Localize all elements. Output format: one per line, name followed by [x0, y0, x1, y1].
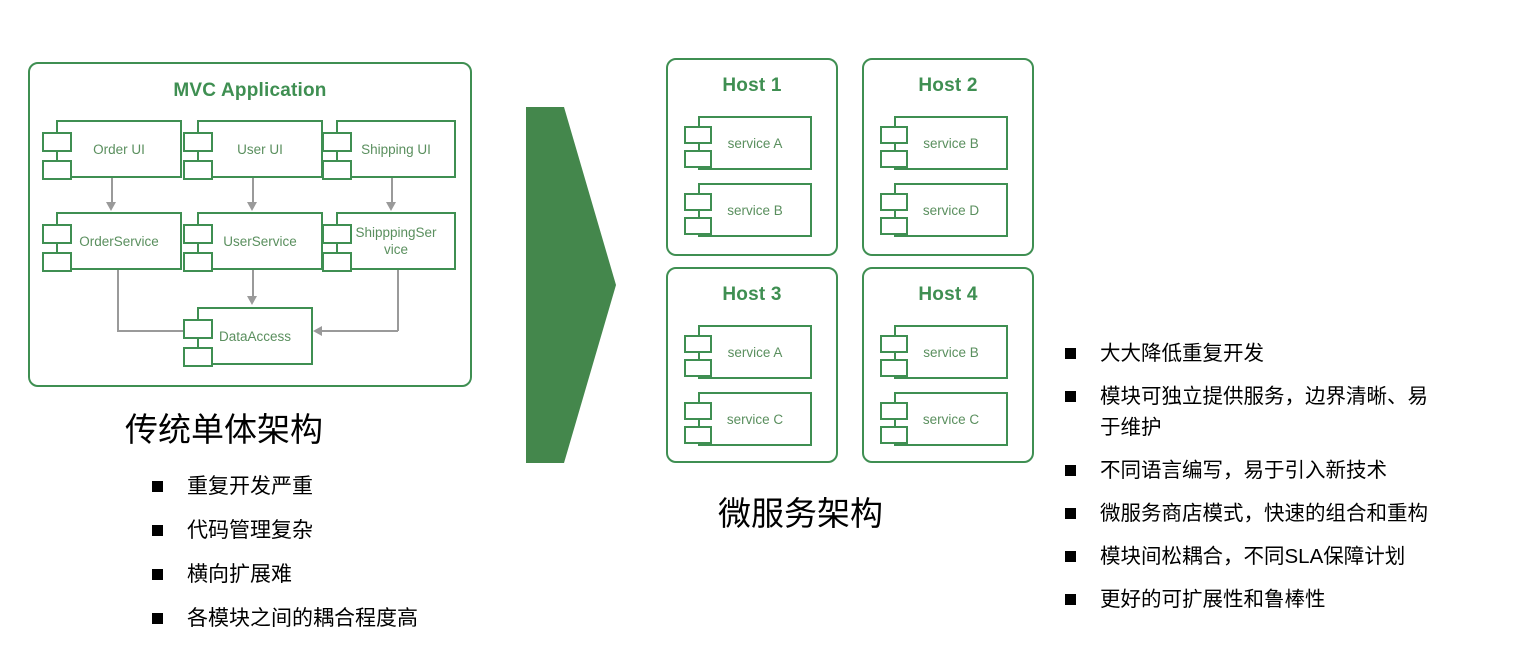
list-item: 模块间松耦合，不同SLA保障计划 — [1065, 541, 1505, 572]
component-label: service C — [723, 411, 787, 428]
component-body: Shipping UI — [336, 120, 456, 178]
monolith-heading: 传统单体架构 — [125, 410, 323, 450]
list-item-label: 重复开发严重 — [187, 472, 313, 502]
component-label: OrderService — [75, 233, 163, 250]
component-body: service B — [894, 325, 1008, 379]
transition-arrow — [524, 105, 618, 465]
connector-shipping-ui-to-service — [391, 178, 393, 203]
bullet-square-icon — [152, 613, 163, 624]
component-tab-icon — [880, 150, 908, 168]
component-tab-icon — [183, 319, 213, 339]
host-2-title: Host 2 — [862, 75, 1034, 97]
list-item-label: 微服务商店模式，快速的组合和重构 — [1100, 498, 1428, 529]
connector-order-service-to-data-access-vertical — [117, 270, 119, 331]
arrowhead-down-icon — [106, 202, 116, 211]
connector-order-service-to-data-access-horizontal — [117, 330, 187, 332]
component-tab-icon — [183, 160, 213, 180]
component-tab-icon — [183, 347, 213, 367]
component-label: service C — [919, 411, 983, 428]
component-user-service[interactable]: UserService — [183, 212, 323, 270]
component-body: service A — [698, 325, 812, 379]
list-item-label: 更好的可扩展性和鲁棒性 — [1100, 584, 1326, 615]
component-shippping-service[interactable]: ShipppingSer vice — [322, 212, 456, 270]
component-body: service B — [698, 183, 812, 237]
bullet-square-icon — [1065, 551, 1076, 562]
component-user-ui[interactable]: User UI — [183, 120, 323, 178]
component-tab-icon — [684, 359, 712, 377]
component-body: User UI — [197, 120, 323, 178]
component-order-service[interactable]: OrderService — [42, 212, 182, 270]
bullet-square-icon — [152, 525, 163, 536]
component-tab-icon — [880, 126, 908, 144]
component-shipping-ui[interactable]: Shipping UI — [322, 120, 456, 178]
component-label: service B — [919, 135, 983, 152]
component-label: service A — [724, 344, 787, 361]
component-body: service B — [894, 116, 1008, 170]
host-3-title: Host 3 — [666, 284, 838, 306]
list-item: 模块可独立提供服务，边界清晰、易 于维护 — [1065, 381, 1505, 443]
component-label: Order UI — [89, 141, 149, 158]
component-tab-icon — [42, 132, 72, 152]
list-item: 更好的可扩展性和鲁棒性 — [1065, 584, 1505, 615]
component-host2-service-d[interactable]: service D — [880, 183, 1008, 237]
bullet-square-icon — [152, 569, 163, 580]
component-tab-icon — [42, 252, 72, 272]
host-4-title: Host 4 — [862, 284, 1034, 306]
component-label: UserService — [219, 233, 301, 250]
component-label: service B — [723, 202, 787, 219]
component-host1-service-b[interactable]: service B — [684, 183, 812, 237]
component-host2-service-b[interactable]: service B — [880, 116, 1008, 170]
list-item-label: 横向扩展难 — [187, 560, 292, 590]
right-chevron-arrow-icon — [524, 105, 618, 465]
microservices-heading: 微服务架构 — [718, 494, 883, 534]
component-label: Shipping UI — [357, 141, 435, 158]
component-tab-icon — [684, 193, 712, 211]
component-body: service D — [894, 183, 1008, 237]
component-tab-icon — [322, 132, 352, 152]
component-tab-icon — [684, 426, 712, 444]
component-label: service A — [724, 135, 787, 152]
monolith-bullet-list: 重复开发严重 代码管理复杂 横向扩展难 各模块之间的耦合程度高 — [152, 472, 532, 648]
list-item: 不同语言编写，易于引入新技术 — [1065, 455, 1505, 486]
list-item-label: 各模块之间的耦合程度高 — [187, 604, 418, 634]
bullet-square-icon — [152, 481, 163, 492]
component-tab-icon — [322, 252, 352, 272]
arrowhead-left-icon — [313, 326, 322, 336]
connector-user-ui-to-service — [252, 178, 254, 203]
component-host3-service-a[interactable]: service A — [684, 325, 812, 379]
list-item: 横向扩展难 — [152, 560, 532, 590]
component-body: Order UI — [56, 120, 182, 178]
list-item-label: 不同语言编写，易于引入新技术 — [1100, 455, 1387, 486]
list-item-label: 模块可独立提供服务，边界清晰、易 于维护 — [1100, 381, 1428, 443]
component-tab-icon — [322, 224, 352, 244]
list-item-label: 代码管理复杂 — [187, 516, 313, 546]
component-host1-service-a[interactable]: service A — [684, 116, 812, 170]
component-tab-icon — [880, 402, 908, 420]
component-tab-icon — [684, 150, 712, 168]
list-item: 各模块之间的耦合程度高 — [152, 604, 532, 634]
list-item-label: 大大降低重复开发 — [1100, 338, 1264, 369]
component-body: OrderService — [56, 212, 182, 270]
component-body: service C — [698, 392, 812, 446]
component-tab-icon — [183, 224, 213, 244]
component-order-ui[interactable]: Order UI — [42, 120, 182, 178]
component-tab-icon — [880, 359, 908, 377]
list-item-label: 模块间松耦合，不同SLA保障计划 — [1100, 541, 1405, 572]
connector-shippping-service-to-data-access-vertical — [397, 270, 399, 331]
component-tab-icon — [322, 160, 352, 180]
component-label: User UI — [233, 141, 287, 158]
component-tab-icon — [42, 160, 72, 180]
connector-order-ui-to-service — [111, 178, 113, 203]
component-body: UserService — [197, 212, 323, 270]
component-label: service D — [919, 202, 983, 219]
component-label: service B — [919, 344, 983, 361]
component-tab-icon — [684, 217, 712, 235]
connector-shippping-service-to-data-access-horizontal — [322, 330, 398, 332]
component-tab-icon — [880, 217, 908, 235]
mvc-application-title: MVC Application — [28, 80, 472, 102]
list-item: 重复开发严重 — [152, 472, 532, 502]
bullet-square-icon — [1065, 465, 1076, 476]
component-body: service C — [894, 392, 1008, 446]
component-host4-service-c[interactable]: service C — [880, 392, 1008, 446]
component-tab-icon — [684, 335, 712, 353]
component-tab-icon — [684, 402, 712, 420]
microservices-bullet-list: 大大降低重复开发 模块可独立提供服务，边界清晰、易 于维护 不同语言编写，易于引… — [1065, 338, 1505, 627]
bullet-square-icon — [1065, 348, 1076, 359]
component-body: DataAccess — [197, 307, 313, 365]
component-host4-service-b[interactable]: service B — [880, 325, 1008, 379]
component-tab-icon — [183, 252, 213, 272]
bullet-square-icon — [1065, 391, 1076, 402]
component-label: ShipppingSer vice — [351, 224, 440, 258]
component-body: service A — [698, 116, 812, 170]
arrowhead-down-icon — [247, 202, 257, 211]
component-tab-icon — [42, 224, 72, 244]
bullet-square-icon — [1065, 508, 1076, 519]
component-data-access[interactable]: DataAccess — [183, 307, 313, 365]
list-item: 微服务商店模式，快速的组合和重构 — [1065, 498, 1505, 529]
component-tab-icon — [880, 193, 908, 211]
component-tab-icon — [880, 335, 908, 353]
connector-user-service-to-data-access — [252, 270, 254, 297]
component-tab-icon — [880, 426, 908, 444]
component-tab-icon — [684, 126, 712, 144]
bullet-square-icon — [1065, 594, 1076, 605]
component-host3-service-c[interactable]: service C — [684, 392, 812, 446]
list-item: 代码管理复杂 — [152, 516, 532, 546]
host-1-title: Host 1 — [666, 75, 838, 97]
component-label: DataAccess — [215, 328, 295, 345]
arrowhead-down-icon — [247, 296, 257, 305]
component-body: ShipppingSer vice — [336, 212, 456, 270]
arrowhead-down-icon — [386, 202, 396, 211]
list-item: 大大降低重复开发 — [1065, 338, 1505, 369]
component-tab-icon — [183, 132, 213, 152]
